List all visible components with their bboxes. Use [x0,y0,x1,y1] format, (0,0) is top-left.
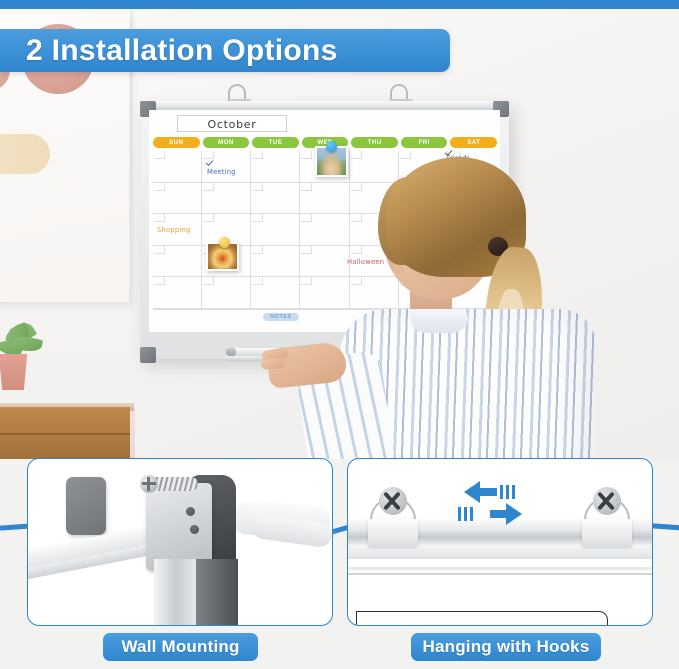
hanging-ring-icon [390,84,408,100]
date-box [351,183,362,191]
screw-head-icon [140,475,158,493]
calendar-cell[interactable] [251,151,300,183]
motion-tick [506,485,509,499]
room-scene: October SUN MON TUE WED THU FRI SAT [0,9,679,459]
cabinet-seam [0,433,130,435]
calendar-cell[interactable] [251,214,300,246]
top-accent-strip [0,0,679,9]
calendar-cell[interactable] [153,151,202,183]
board-inner-outline [356,611,608,626]
hook-bracket [368,519,418,547]
day-header-sat: SAT [450,137,497,148]
date-box [252,214,263,222]
screw-head-icon [379,487,407,515]
date-box [203,151,214,159]
arrow-head [506,503,522,525]
date-box [252,277,263,285]
person-using-board [366,159,596,459]
calendar-cell[interactable] [202,183,251,215]
calendar-cell[interactable] [153,277,202,309]
date-box [351,151,362,159]
month-field[interactable]: October [177,115,287,132]
title-banner: 2 Installation Options [0,29,450,72]
board-surface-line [347,573,653,575]
hook-bracket [582,519,632,547]
board-top-rail [140,101,509,110]
magnet-yellow-icon[interactable] [219,237,230,248]
motion-tick [458,507,461,521]
day-header-mon: MON [203,137,250,148]
calendar-entry-shopping: Shopping [157,226,191,234]
screw-head-icon [593,487,621,515]
hanging-ring-icon [228,84,246,100]
bracket-post-dark [196,559,238,626]
arrow-head [464,481,480,503]
frame-corner [140,347,156,363]
product-infographic: October SUN MON TUE WED THU FRI SAT [0,0,679,669]
wall-hook-left [366,485,420,547]
date-box [252,151,263,159]
date-box [203,214,214,222]
date-box [301,277,312,285]
day-header-thu: THU [351,137,398,148]
date-box [203,277,214,285]
date-box [351,214,362,222]
calendar-cell[interactable] [300,183,349,215]
motion-tick [464,507,467,521]
date-box [154,151,165,159]
calendar-cell[interactable] [202,151,251,183]
day-header-sun: SUN [153,137,200,148]
calendar-cell[interactable] [300,277,349,309]
dog-photo-image [317,148,346,175]
wall-plate [66,477,106,535]
date-box [351,246,362,254]
date-box [154,277,165,285]
date-box [301,151,312,159]
day-header-fri: FRI [401,137,448,148]
date-box [154,214,165,222]
motion-tick [512,485,515,499]
frame-rail-lower [347,545,653,559]
motion-tick [500,485,503,499]
bracket-hole [190,525,199,534]
wall-art-bar [0,134,50,174]
panel-hanging-with-hooks [347,458,653,626]
shirt-collar [410,309,468,333]
notes-label: NOTES [263,313,299,321]
day-header-tue: TUE [252,137,299,148]
date-box [154,246,165,254]
calendar-cell[interactable] [300,246,349,278]
date-box [203,183,214,191]
month-label: October [178,116,286,133]
arrow-shaft [479,488,497,496]
panel-wall-mounting [27,458,333,626]
calendar-cell[interactable] [202,277,251,309]
page-title: 2 Installation Options [26,34,338,68]
date-box [252,183,263,191]
date-box [301,246,312,254]
date-box [400,151,411,159]
board-surface-line [347,567,653,570]
date-box [154,183,165,191]
wall-hook-right [580,485,634,547]
date-box [301,183,312,191]
caption-hanging-with-hooks: Hanging with Hooks [411,633,601,661]
calendar-cell[interactable] [153,183,202,215]
finger [261,358,286,370]
magnet-blue-icon[interactable] [326,141,337,152]
calendar-cell[interactable] [251,246,300,278]
calendar-cell[interactable] [153,246,202,278]
marker-cap [226,348,236,356]
caption-wall-mounting: Wall Mounting [103,633,258,661]
calendar-cell[interactable] [251,183,300,215]
bracket-hole [186,507,195,516]
calendar-entry-meeting: Meeting [207,168,236,176]
calendar-cell[interactable] [300,214,349,246]
motion-tick [470,507,473,521]
bracket-post [154,559,198,626]
date-box [351,277,362,285]
date-box [301,214,312,222]
bracket-body [146,483,212,571]
date-box [252,246,263,254]
calendar-cell[interactable] [251,277,300,309]
